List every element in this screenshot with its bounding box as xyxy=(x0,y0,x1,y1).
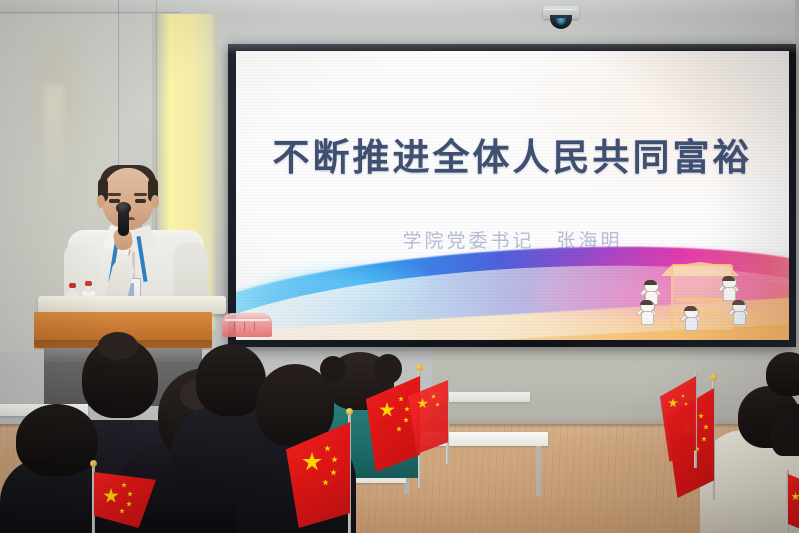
bottle-cap xyxy=(69,283,76,288)
banner-line xyxy=(225,319,269,321)
flag-star-large xyxy=(302,452,322,472)
flag-star-small xyxy=(403,417,409,423)
wall-stain-streak xyxy=(44,85,64,205)
flag-star-small xyxy=(331,456,338,463)
pavilion-children-motif xyxy=(639,254,759,332)
presenter-ear xyxy=(97,195,105,208)
cartoon-child-icon xyxy=(683,306,698,332)
attendee-head xyxy=(16,404,98,476)
flag-star-large xyxy=(103,488,119,504)
presenter-brow xyxy=(108,193,121,196)
cartoon-child-icon xyxy=(639,300,654,326)
flag-star-small xyxy=(322,479,329,486)
dome-security-camera xyxy=(543,6,579,30)
slide-decor-waves xyxy=(236,230,789,340)
attendee-hair xyxy=(770,404,799,456)
flag-star-small xyxy=(404,406,410,412)
flag-star-small xyxy=(324,445,331,452)
projection-screen[interactable]: 不断推进全体人民共同富裕 学院党委书记 张海明 xyxy=(236,51,789,340)
cartoon-child-icon xyxy=(731,300,746,326)
flag-star-small xyxy=(330,469,337,476)
flag-star-small xyxy=(398,396,404,402)
flag-star-small xyxy=(121,482,127,488)
desk-leg xyxy=(536,446,541,496)
flag-star-small xyxy=(126,501,132,507)
lecture-hall-photo: 不断推进全体人民共同富裕 学院党委书记 张海明 xyxy=(0,0,799,533)
flag-star-small xyxy=(396,426,402,432)
flag-finial-icon xyxy=(90,460,97,467)
flag-star-small xyxy=(119,508,125,514)
flag-star-large xyxy=(417,398,428,409)
flag-star-small xyxy=(701,436,707,442)
presenter-ear xyxy=(151,195,159,208)
flag-star-small xyxy=(684,402,688,406)
slide-title: 不断推进全体人民共同富裕 xyxy=(236,127,789,181)
bottle-neck xyxy=(70,287,75,295)
flag-star-small xyxy=(681,394,685,398)
bottle-cap xyxy=(85,281,92,286)
flag-star-small xyxy=(127,491,133,497)
camera-ridge xyxy=(545,9,577,10)
flag-star-large xyxy=(668,398,678,408)
flag-finial-icon xyxy=(346,408,353,415)
flag-finial-icon xyxy=(710,374,717,381)
flag-star-small xyxy=(703,424,709,430)
presenter-brow xyxy=(134,193,147,196)
flag-star-small xyxy=(435,402,440,407)
flag-finial-icon xyxy=(416,364,423,371)
wall-seam xyxy=(0,12,180,13)
presenter-eye xyxy=(135,199,146,203)
pavilion-bar xyxy=(677,298,723,302)
flag-star-small xyxy=(698,413,704,419)
flag-star-small xyxy=(431,394,436,399)
attendee-hair-volume xyxy=(374,354,402,384)
attendee-head xyxy=(766,352,799,396)
banner-tick xyxy=(234,322,235,331)
attendee-hair-bun xyxy=(98,332,138,360)
banner-tick xyxy=(244,322,245,331)
flag-star-large xyxy=(379,402,395,418)
banner-tick xyxy=(254,322,255,331)
flag-star-large xyxy=(791,492,799,501)
bottle-neck xyxy=(86,285,91,293)
red-decor-banner xyxy=(222,313,272,337)
attendee-head xyxy=(256,364,334,446)
flag-cloth xyxy=(788,474,799,532)
cartoon-child-icon xyxy=(721,276,736,302)
microphone-head-icon xyxy=(116,202,131,214)
